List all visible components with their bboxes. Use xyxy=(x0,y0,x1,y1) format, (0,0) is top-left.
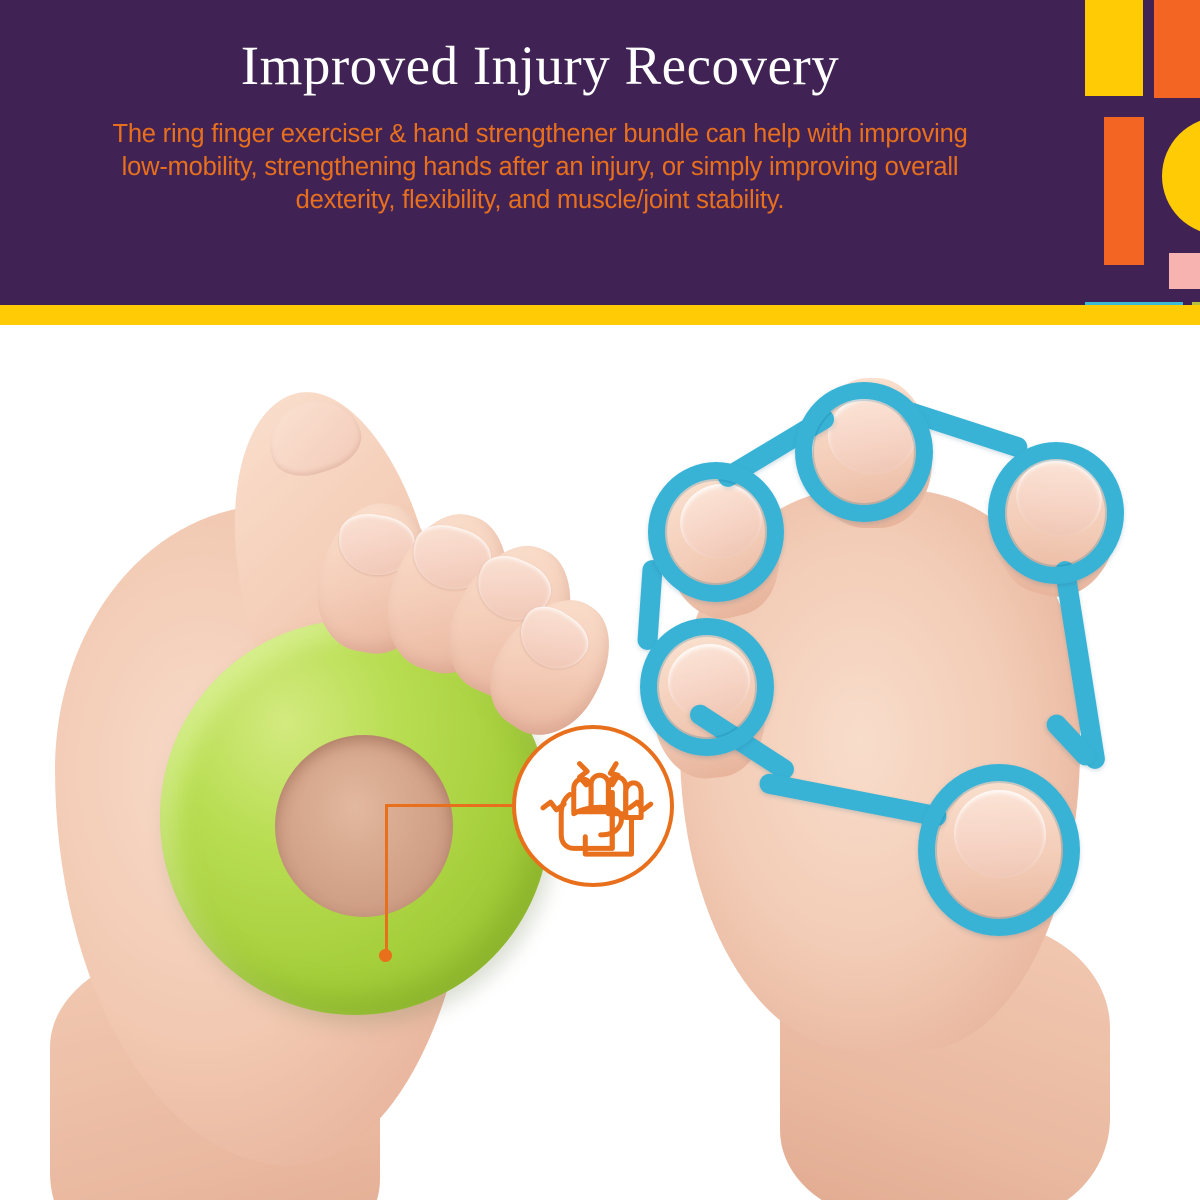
deco-orange-bar-vertical xyxy=(1104,117,1144,265)
blue-stretcher-ring-middle xyxy=(988,442,1124,584)
blue-stretcher-ring-ring xyxy=(918,764,1080,936)
deco-orange-rectangle-top xyxy=(1154,0,1200,98)
geometric-corner-pattern xyxy=(1080,0,1200,305)
header-banner: Improved Injury Recovery The ring finger… xyxy=(0,0,1200,305)
header-accent-rule xyxy=(0,305,1200,325)
blue-stretcher-ring-thumb xyxy=(648,462,784,602)
deco-yellow-rectangle-top xyxy=(1085,0,1143,96)
callout-top-connector-vertical xyxy=(385,804,388,956)
blue-stretcher-ring-index xyxy=(795,382,933,522)
page-title: Improved Injury Recovery xyxy=(0,34,1080,97)
clenched-fist-icon xyxy=(516,729,670,883)
green-grip-ring-hole xyxy=(275,735,453,917)
callout-badge-grip-strength xyxy=(512,725,674,887)
header-description: The ring finger exerciser & hand strengt… xyxy=(100,118,980,217)
right-hand-product-photo xyxy=(600,360,1200,1200)
deco-yellow-circle xyxy=(1162,117,1200,235)
deco-pink-rectangle xyxy=(1169,253,1200,289)
callout-top-anchor-dot xyxy=(379,949,392,962)
callout-top-connector-horizontal xyxy=(385,804,525,807)
product-photo-area xyxy=(0,325,1200,1200)
